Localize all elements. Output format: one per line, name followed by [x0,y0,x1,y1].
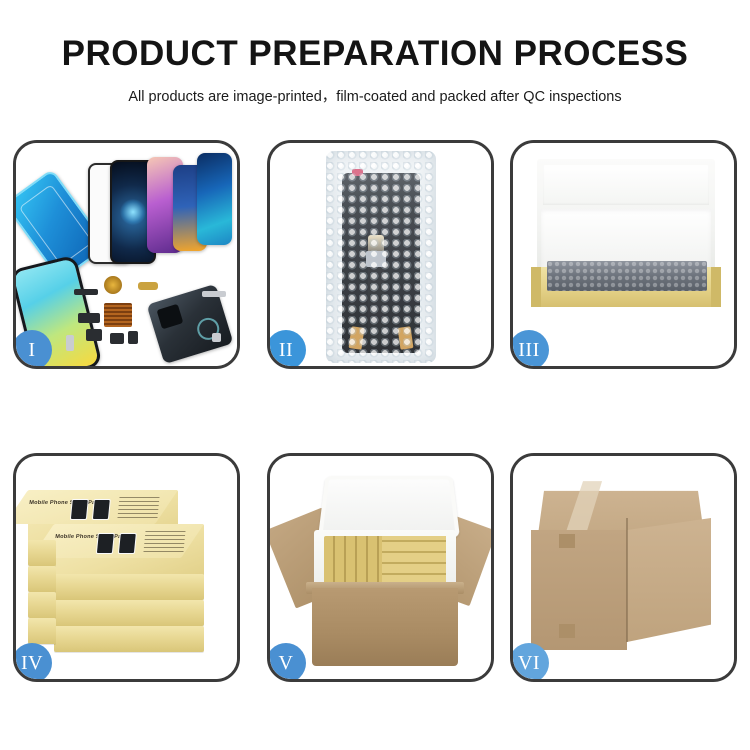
retail-box-thumb-a1 [70,499,89,520]
step-badge-6: VI [513,643,549,679]
part-connector-strip [74,289,98,295]
inner-box-lip-left [531,267,541,307]
part-battery-connector [128,331,138,344]
part-chip-grid [104,303,132,327]
bubble-wrap-overlay [326,151,436,363]
step-badge-1: I [16,330,52,366]
step-3-image: III [513,143,734,366]
step-badge-5: V [270,643,306,679]
part-camera-module [86,329,102,341]
step-2-image: II [270,143,491,366]
page-subtitle: All products are image-printed，film-coat… [0,73,750,106]
step-numeral-3: III [518,340,539,360]
step-5-image: V [270,456,491,679]
retail-box-left-edge-1 [28,540,56,566]
process-step-panel-3[interactable]: III [510,140,737,369]
foam-lid [318,476,460,537]
retail-box-label-b: Mobile Phone Spare Parts [55,534,129,540]
step-numeral-5: V [279,653,294,673]
retail-box-left-edge-3 [28,592,56,618]
sealed-carton-front [531,530,627,650]
retail-box-layer-3 [54,574,204,600]
retail-box-lid-a: Mobile Phone Spare Parts [16,490,178,524]
process-step-panel-4[interactable]: Mobile Phone Spare Parts Mobile Phone Sp… [13,453,240,682]
sealed-carton-tab-bottom [559,624,575,638]
part-bracket [78,313,100,323]
retail-box-stack: Mobile Phone Spare Parts Mobile Phone Sp… [28,482,232,668]
process-step-panel-1[interactable]: I [13,140,240,369]
bubble-wrap-bag [326,151,436,363]
retail-box-lid-b: Mobile Phone Spare Parts [31,524,204,558]
step-numeral-4: IV [21,653,43,673]
step-numeral-2: II [279,340,293,360]
retail-box-left-edge-4 [28,618,56,644]
part-screw [212,333,221,342]
carton-contents-boxes-right [382,536,446,584]
retail-box-speclines-a [117,496,159,518]
process-step-panel-2[interactable]: II [267,140,494,369]
sealed-carton-side [627,518,711,642]
part-taptic-engine [110,333,124,344]
retail-box-thumb-b1 [96,533,115,554]
retail-box-left-edge-2 [28,566,56,592]
retail-box-thumb-a2 [92,499,111,520]
step-badge-4: IV [16,643,52,679]
step-badge-3: III [513,330,549,366]
inner-box-contents-bubble [547,261,707,291]
part-flex-cable [138,282,158,290]
phone-screen-teal [197,153,232,245]
step-6-image: VI [513,456,734,679]
retail-box-layer-5 [54,626,204,652]
inner-box-lip-right [711,267,721,307]
carton-front-panel [312,588,458,666]
part-speaker-coil [104,276,122,294]
step-4-image: Mobile Phone Spare Parts Mobile Phone Sp… [16,456,237,679]
retail-box-top-b: Mobile Phone Spare Parts [54,524,204,576]
retail-box-layer-4 [54,600,204,626]
step-badge-2: II [270,330,306,366]
process-step-grid: I II [13,140,737,685]
sealed-carton-tab-top [559,534,575,548]
page-title: PRODUCT PREPARATION PROCESS [0,0,750,73]
process-step-panel-6[interactable]: VI [510,453,737,682]
part-sim-tray [66,335,74,351]
retail-box-thumb-b2 [118,533,137,554]
step-numeral-6: VI [518,653,540,673]
process-step-panel-5[interactable]: V [267,453,494,682]
sealed-carton-seam [626,518,628,642]
step-numeral-1: I [28,340,35,360]
page-header: PRODUCT PREPARATION PROCESS All products… [0,0,750,106]
part-tweezers [202,291,226,297]
retail-box-label-a: Mobile Phone Spare Parts [29,500,103,506]
retail-box-speclines-b [143,530,185,552]
step-1-image: I [16,143,237,366]
